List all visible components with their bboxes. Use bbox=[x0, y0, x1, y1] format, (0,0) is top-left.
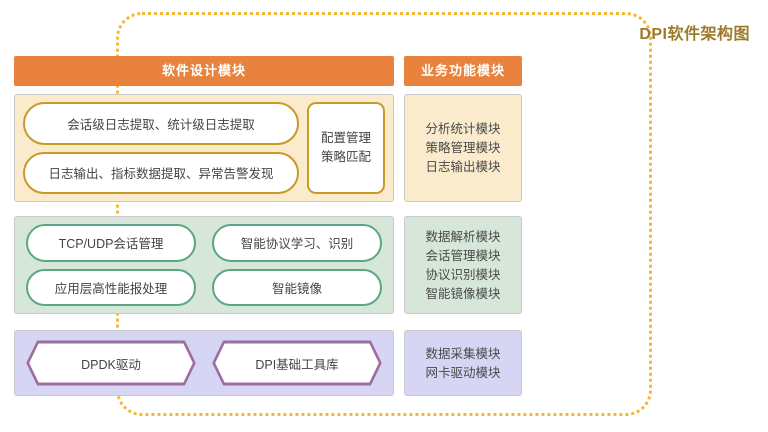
diagram-canvas: DPI软件架构图 软件设计模块 业务功能模块 会话级日志提取、统计级日志提取 日… bbox=[0, 0, 768, 432]
right-line-log-output: 日志输出模块 bbox=[425, 158, 500, 176]
layer-row-protocol-right: 数据解析模块 会话管理模块 协议识别模块 智能镜像模块 bbox=[404, 216, 522, 314]
hex-dpi-base-toolkit[interactable]: DPI基础工具库 bbox=[212, 340, 382, 386]
band-orange-right: 分析统计模块 策略管理模块 日志输出模块 bbox=[404, 94, 522, 202]
header-business-function-modules: 业务功能模块 bbox=[404, 56, 522, 86]
right-line-analysis-statistics: 分析统计模块 bbox=[425, 120, 500, 138]
right-line-policy-management: 策略管理模块 bbox=[425, 139, 500, 157]
pill-session-statistic-log-extract[interactable]: 会话级日志提取、统计级日志提取 bbox=[23, 102, 299, 145]
header-row: 软件设计模块 业务功能模块 bbox=[14, 56, 754, 86]
layer-row-driver-right: 数据采集模块 网卡驱动模块 bbox=[404, 330, 522, 396]
pill-tcp-udp-session-management[interactable]: TCP/UDP会话管理 bbox=[26, 224, 196, 262]
band-green-right: 数据解析模块 会话管理模块 协议识别模块 智能镜像模块 bbox=[404, 216, 522, 314]
box-config-policy[interactable]: 配置管理 策略匹配 bbox=[307, 102, 385, 194]
pill-intelligent-protocol-learning[interactable]: 智能协议学习、识别 bbox=[212, 224, 382, 262]
band-orange: 会话级日志提取、统计级日志提取 日志输出、指标数据提取、异常告警发现 配置管理 … bbox=[14, 94, 394, 202]
diagram-title: DPI软件架构图 bbox=[639, 20, 750, 44]
orange-pill-stack: 会话级日志提取、统计级日志提取 日志输出、指标数据提取、异常告警发现 bbox=[23, 102, 299, 194]
config-line-management: 配置管理 bbox=[321, 130, 371, 147]
band-purple: DPDK驱动 DPI基础工具库 bbox=[14, 330, 394, 396]
layer-row-analysis-right: 分析统计模块 策略管理模块 日志输出模块 bbox=[404, 94, 522, 202]
right-line-protocol-identification: 协议识别模块 bbox=[425, 266, 500, 284]
pill-app-layer-high-performance[interactable]: 应用层高性能报处理 bbox=[26, 269, 196, 307]
right-line-data-parsing: 数据解析模块 bbox=[425, 228, 500, 246]
right-line-session-management: 会话管理模块 bbox=[425, 247, 500, 265]
right-line-intelligent-mirroring: 智能镜像模块 bbox=[425, 285, 500, 303]
right-line-nic-driver: 网卡驱动模块 bbox=[425, 364, 500, 382]
band-purple-content: DPDK驱动 DPI基础工具库 bbox=[14, 330, 394, 396]
right-line-data-collection: 数据采集模块 bbox=[425, 345, 500, 363]
layer-row-protocol-left: TCP/UDP会话管理 智能协议学习、识别 应用层高性能报处理 智能镜像 bbox=[14, 216, 394, 314]
hex-label-dpdk-driver: DPDK驱动 bbox=[81, 354, 141, 373]
band-green-content: TCP/UDP会话管理 智能协议学习、识别 应用层高性能报处理 智能镜像 bbox=[14, 216, 394, 314]
header-right-wrap: 业务功能模块 bbox=[404, 56, 522, 86]
hex-dpdk-driver[interactable]: DPDK驱动 bbox=[26, 340, 196, 386]
band-orange-content: 会话级日志提取、统计级日志提取 日志输出、指标数据提取、异常告警发现 配置管理 … bbox=[14, 94, 394, 202]
band-green: TCP/UDP会话管理 智能协议学习、识别 应用层高性能报处理 智能镜像 bbox=[14, 216, 394, 314]
header-software-design-modules: 软件设计模块 bbox=[14, 56, 394, 86]
header-left-wrap: 软件设计模块 bbox=[14, 56, 394, 86]
layer-row-analysis-left: 会话级日志提取、统计级日志提取 日志输出、指标数据提取、异常告警发现 配置管理 … bbox=[14, 94, 394, 202]
band-purple-right: 数据采集模块 网卡驱动模块 bbox=[404, 330, 522, 396]
hex-label-dpi-base-toolkit: DPI基础工具库 bbox=[255, 354, 338, 373]
config-line-policy-match: 策略匹配 bbox=[321, 149, 371, 166]
layer-row-driver-left: DPDK驱动 DPI基础工具库 bbox=[14, 330, 394, 396]
pill-log-output-metric-alarm[interactable]: 日志输出、指标数据提取、异常告警发现 bbox=[23, 152, 299, 195]
pill-intelligent-mirroring[interactable]: 智能镜像 bbox=[212, 269, 382, 307]
